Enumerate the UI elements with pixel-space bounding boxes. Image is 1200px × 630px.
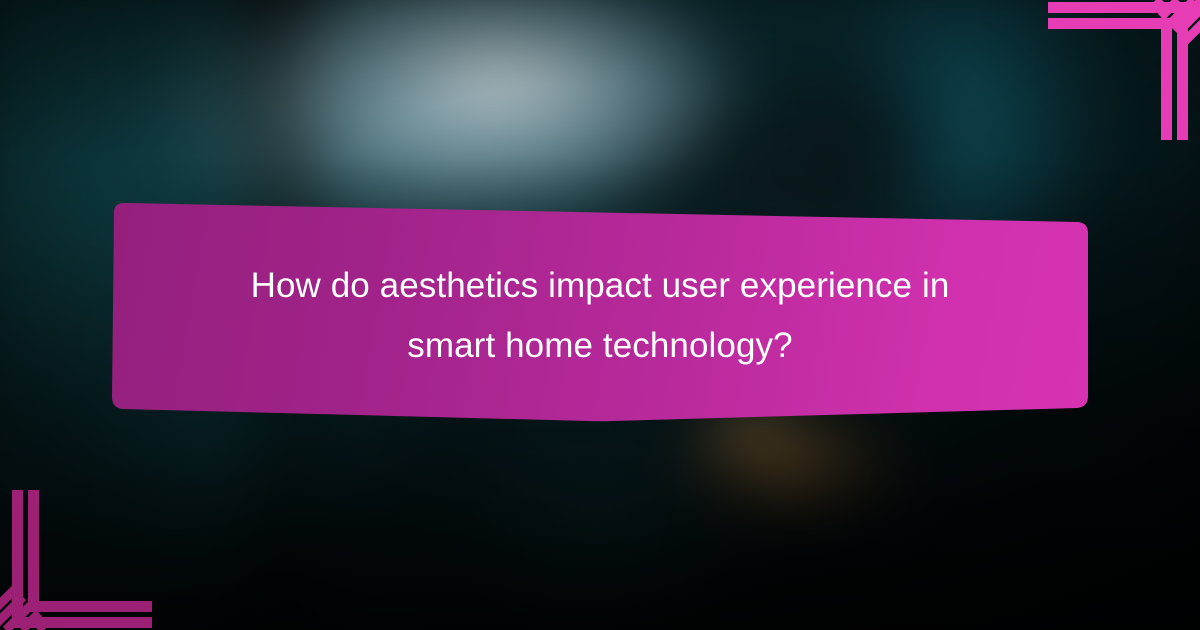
banner-text-block: How do aesthetics impact user experience… xyxy=(100,200,1100,428)
corner-bracket-bottom-left xyxy=(0,490,160,630)
headline-line-2: smart home technology? xyxy=(407,317,792,375)
headline-line-1: How do aesthetics impact user experience… xyxy=(251,257,950,315)
headline-banner: How do aesthetics impact user experience… xyxy=(100,200,1100,428)
social-card: How do aesthetics impact user experience… xyxy=(0,0,1200,630)
corner-bracket-top-right xyxy=(1040,0,1200,140)
